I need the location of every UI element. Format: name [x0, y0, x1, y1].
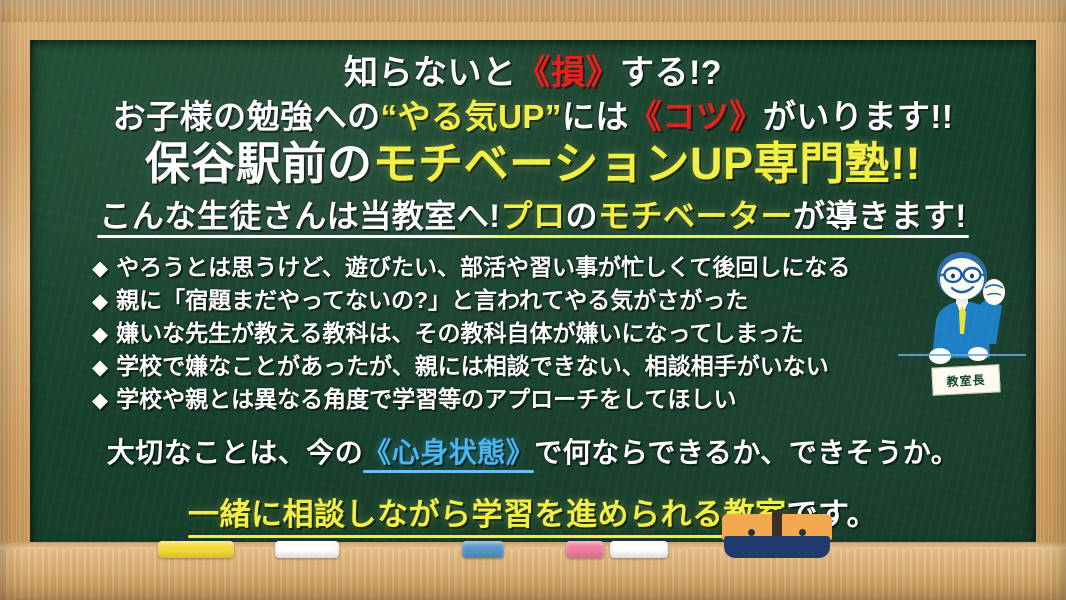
text-span-1: プロ — [500, 198, 565, 234]
board-content: 知らないと《損》する!? お子様の勉強への“やる気UP”には《コツ》がいります!… — [30, 40, 1036, 552]
bullet-item: ◆学校や親とは異なる角度で学習等のアプローチをしてほしい — [92, 388, 1010, 411]
diamond-bullet-icon: ◆ — [92, 258, 108, 279]
closing-line-2: 一緒に相談しながら学習を進められる教室です。 — [56, 489, 1010, 534]
chalk-white-2 — [610, 541, 668, 558]
text-span-2: には — [562, 98, 629, 135]
closing-line-1: 大切なことは、今の《心身状態》で何ならできるか、できそうか。 — [56, 431, 1010, 471]
bullet-text: 親に「宿題まだやってないの?」と言われてやる気がさがった — [116, 287, 748, 313]
nameplate: 教室長 — [931, 364, 1000, 396]
text-span-1: 《心身状態》 — [363, 437, 534, 468]
headline-line-1: 知らないと《損》する!? — [56, 56, 1010, 90]
text-span-2: する!? — [620, 54, 722, 92]
eraser-felt — [724, 536, 830, 558]
text-span-1: 《損》 — [516, 54, 620, 92]
diamond-bullet-icon: ◆ — [92, 291, 108, 312]
text-span-4: がいります!! — [763, 98, 953, 135]
headline-line-4: こんな生徒さんは当教室へ!プロのモチベーターが導きます! — [99, 200, 966, 232]
classroom-director-character: 教室長 — [910, 248, 1030, 398]
bullet-item: ◆親に「宿題まだやってないの?」と言われてやる気がさがった — [92, 289, 1010, 312]
text-span-1: “やる気UP” — [381, 98, 562, 135]
text-span-3: モチベーター — [598, 198, 793, 234]
bullet-text: 学校や親とは異なる角度で学習等のアプローチをしてほしい — [116, 386, 736, 412]
blackboard-eraser — [722, 514, 832, 560]
text-span-0: 保谷駅前の — [145, 138, 373, 189]
text-span-3: 《コツ》 — [629, 98, 763, 135]
headline-line-2: お子様の勉強への“やる気UP”には《コツ》がいります!! — [56, 100, 1010, 133]
nameplate-label: 教室長 — [946, 370, 986, 389]
text-span-2: の — [565, 198, 598, 234]
chalk-pink — [566, 541, 604, 558]
chalkboard: 知らないと《損》する!? お子様の勉強への“やる気UP”には《コツ》がいります!… — [30, 40, 1036, 552]
chalk-white-1 — [275, 541, 339, 558]
text-span-0: お子様の勉強への — [113, 98, 381, 135]
diamond-bullet-icon: ◆ — [92, 324, 108, 345]
bullet-item: ◆嫌いな先生が教える教科は、その教科自体が嫌いになってしまった — [92, 322, 1010, 345]
text-span-0: こんな生徒さんは当教室へ! — [99, 198, 500, 234]
chalk-yellow — [158, 541, 234, 558]
diamond-bullet-icon: ◆ — [92, 390, 108, 411]
chalk-blue — [462, 541, 504, 558]
text-span-4: が導きます! — [793, 198, 967, 234]
text-span-2: で何ならできるか、できそうか。 — [534, 437, 959, 468]
desk-line — [898, 354, 1026, 356]
screenshot-root: 知らないと《損》する!? お子様の勉強への“やる気UP”には《コツ》がいります!… — [0, 0, 1066, 600]
text-span-0: 大切なことは、今の — [107, 437, 364, 468]
text-span-1: モチベーションUP専門塾!! — [372, 138, 921, 189]
bullet-text: やろうとは思うけど、遊びたい、部活や習い事が忙しくて後回しになる — [116, 254, 850, 280]
bullet-item: ◆学校で嫌なことがあったが、親には相談できない、相談相手がいない — [92, 355, 1010, 378]
eraser-rivet-right — [799, 529, 806, 536]
bullet-list: ◆やろうとは思うけど、遊びたい、部活や習い事が忙しくて後回しになる◆親に「宿題ま… — [56, 256, 1010, 411]
text-span-0: 知らないと — [344, 54, 517, 92]
bullet-text: 学校で嫌なことがあったが、親には相談できない、相談相手がいない — [116, 353, 829, 379]
headline-line-3: 保谷駅前のモチベーションUP専門塾!! — [56, 141, 1010, 186]
frame-top-rail — [0, 0, 1066, 22]
text-span-0: 一緒に相談しながら学習を進められる教室 — [188, 497, 787, 532]
diamond-bullet-icon: ◆ — [92, 357, 108, 378]
bullet-text: 嫌いな先生が教える教科は、その教科自体が嫌いになってしまった — [116, 320, 803, 346]
bullet-item: ◆やろうとは思うけど、遊びたい、部活や習い事が忙しくて後回しになる — [92, 256, 1010, 279]
